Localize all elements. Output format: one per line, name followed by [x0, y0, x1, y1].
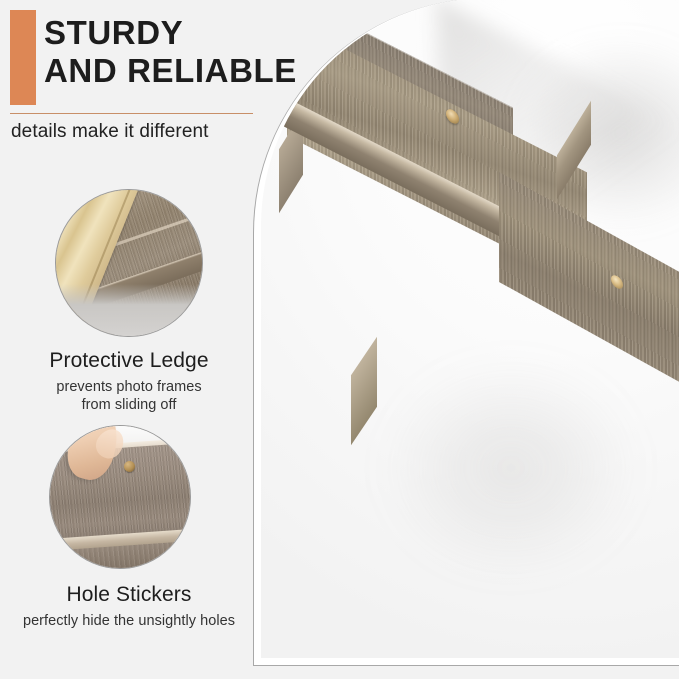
page-subtitle: details make it different	[11, 120, 209, 144]
feature-2-photo	[50, 426, 190, 568]
feature-2-title: Hole Stickers	[0, 582, 258, 608]
photo-frame-inner-graphic	[56, 190, 97, 219]
feature-2-image	[50, 426, 190, 568]
feature-hole-stickers: Hole Stickers perfectly hide the unsight…	[0, 426, 258, 630]
feature-1-title: Protective Ledge	[0, 348, 258, 374]
page-title-line-1: STURDY	[44, 14, 344, 52]
feature-1-photo-shadow	[56, 284, 202, 336]
feature-protective-ledge: Protective Ledge prevents photo frames f…	[0, 190, 258, 414]
hero-photo	[261, 0, 679, 658]
feature-2-subtitle-line-1: perfectly hide the unsightly holes	[0, 612, 258, 630]
hero-photo-panel	[253, 0, 679, 666]
feature-2-subtitle: perfectly hide the unsightly holes	[0, 612, 258, 630]
title-divider	[10, 113, 253, 114]
feature-1-subtitle-line-2: from sliding off	[0, 396, 258, 414]
mounting-hole-graphic	[124, 461, 135, 472]
feature-1-photo	[56, 190, 202, 336]
left-content-column: STURDY AND RELIABLE details make it diff…	[0, 0, 260, 679]
feature-1-subtitle-line-1: prevents photo frames	[0, 378, 258, 396]
feature-1-subtitle: prevents photo frames from sliding off	[0, 378, 258, 414]
page-title-line-2: AND RELIABLE	[44, 52, 344, 90]
product-infographic-page: STURDY AND RELIABLE details make it diff…	[0, 0, 679, 679]
page-title: STURDY AND RELIABLE	[44, 14, 344, 90]
shelf-lower	[339, 244, 679, 658]
orange-accent-bar	[10, 10, 36, 105]
feature-1-image	[56, 190, 202, 336]
